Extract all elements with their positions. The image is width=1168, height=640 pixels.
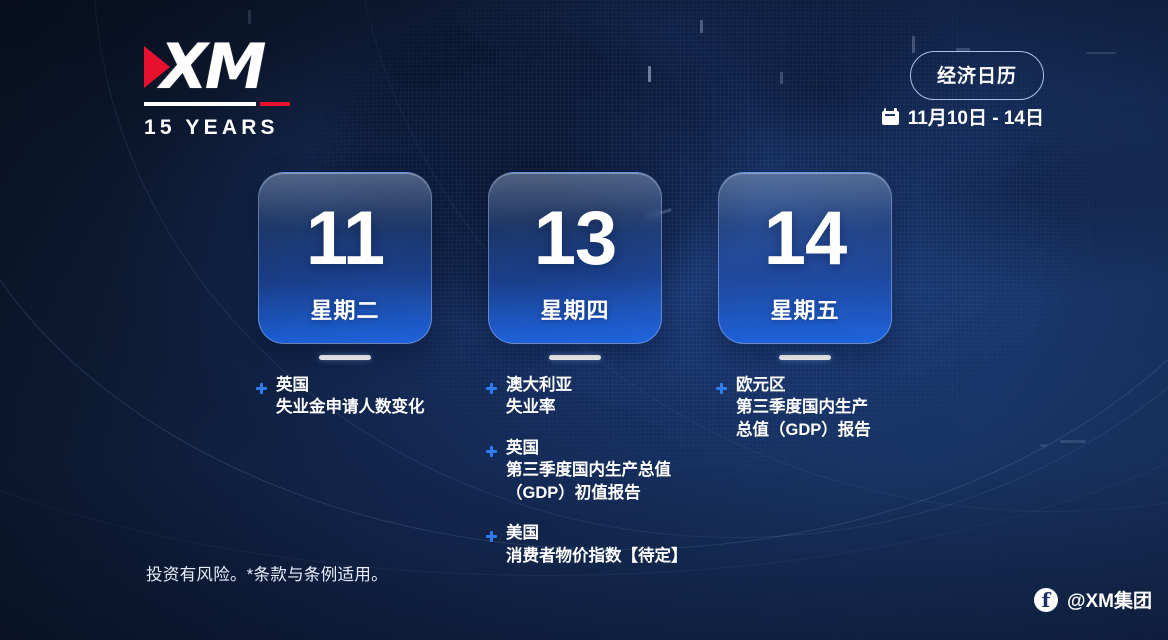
plus-icon <box>256 383 267 394</box>
event-description: 第三季度国内生产 总值（GDP）报告 <box>736 396 871 441</box>
event-country: 美国 <box>506 522 688 544</box>
event-item: 澳大利亚 失业率 <box>486 374 716 419</box>
plus-icon <box>486 446 497 457</box>
social-handle-label: @XM集团 <box>1067 586 1152 613</box>
event-text: 美国 消费者物价指数【待定】 <box>506 522 688 567</box>
card-underline <box>779 355 831 360</box>
plus-icon <box>486 531 497 542</box>
event-item: 欧元区 第三季度国内生产 总值（GDP）报告 <box>716 374 946 441</box>
day-weekday: 星期二 <box>259 293 431 325</box>
day-card-surface: 13 星期四 <box>488 172 662 344</box>
event-description: 失业金申请人数变化 <box>276 396 425 418</box>
day-card-13[interactable]: 13 星期四 <box>488 172 662 360</box>
event-country: 欧元区 <box>736 374 871 396</box>
event-country: 英国 <box>506 437 671 459</box>
day-number: 11 <box>259 201 431 277</box>
risk-disclaimer: 投资有风险。*条款与条例适用。 <box>146 561 388 585</box>
event-list-day-11: 英国 失业金申请人数变化 <box>256 374 471 419</box>
day-card-11[interactable]: 11 星期二 <box>258 172 432 360</box>
day-card-14[interactable]: 14 星期五 <box>718 172 892 360</box>
event-text: 英国 第三季度国内生产总值 （GDP）初值报告 <box>506 437 671 504</box>
event-description: 第三季度国内生产总值 （GDP）初值报告 <box>506 459 671 504</box>
day-number: 14 <box>719 201 891 277</box>
day-card-surface: 11 星期二 <box>258 172 432 344</box>
event-text: 英国 失业金申请人数变化 <box>276 374 425 419</box>
facebook-icon[interactable]: f <box>1034 588 1058 612</box>
event-country: 英国 <box>276 374 425 396</box>
card-underline <box>319 355 371 360</box>
day-weekday: 星期五 <box>719 293 891 325</box>
event-item: 英国 失业金申请人数变化 <box>256 374 471 419</box>
event-item: 英国 第三季度国内生产总值 （GDP）初值报告 <box>486 437 716 504</box>
event-list-day-13: 澳大利亚 失业率 英国 第三季度国内生产总值 （GDP）初值报告 美国 消费者物… <box>486 374 716 567</box>
day-card-surface: 14 星期五 <box>718 172 892 344</box>
social-handle[interactable]: f @XM集团 <box>1034 586 1152 613</box>
event-text: 澳大利亚 失业率 <box>506 374 572 419</box>
plus-icon <box>716 383 727 394</box>
event-description: 消费者物价指数【待定】 <box>506 545 688 567</box>
event-text: 欧元区 第三季度国内生产 总值（GDP）报告 <box>736 374 871 441</box>
poster-canvas: XM 15 YEARS 经济日历 11月10日 - 14日 11 星期二 13 … <box>0 0 1168 640</box>
event-item: 美国 消费者物价指数【待定】 <box>486 522 716 567</box>
plus-icon <box>486 383 497 394</box>
day-weekday: 星期四 <box>489 293 661 325</box>
event-list-day-14: 欧元区 第三季度国内生产 总值（GDP）报告 <box>716 374 946 441</box>
event-country: 澳大利亚 <box>506 374 572 396</box>
day-number: 13 <box>489 201 661 277</box>
event-description: 失业率 <box>506 396 572 418</box>
card-underline <box>549 355 601 360</box>
